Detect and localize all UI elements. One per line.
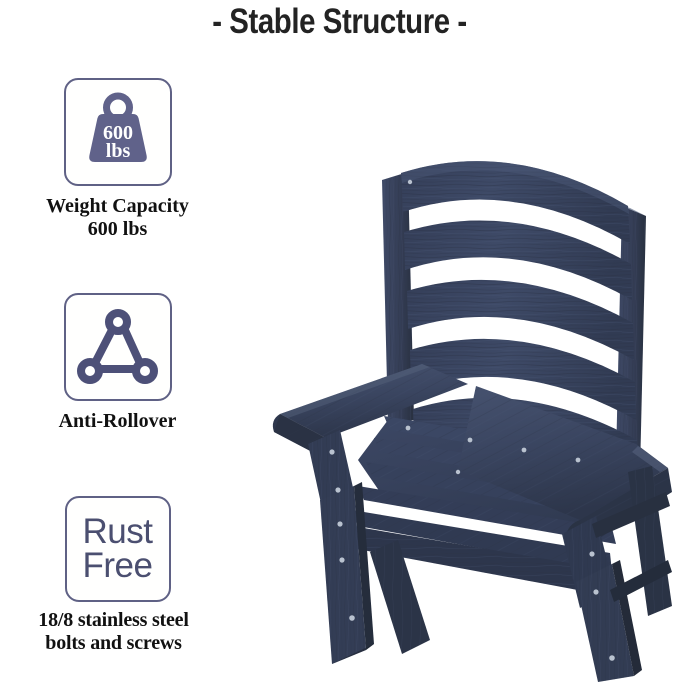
feature-caption-anti-rollover: Anti-Rollover [0,410,235,433]
icon-box-rust-free: Rust Free [65,496,171,602]
rust-free-line-1: Rust [83,515,153,549]
triangle-nodes-icon-svg [77,308,159,386]
icon-box-weight-capacity: 600 lbs [64,78,172,186]
feature-caption-rust-free: 18/8 stainless steel bolts and screws [0,609,235,655]
feature-caption-weight-capacity: Weight Capacity 600 lbs [0,195,235,241]
chair-illustration [262,120,679,682]
feature-item-anti-rollover: Anti-Rollover [0,293,235,433]
weight-600lbs-icon: 600 lbs [66,80,170,184]
feature-item-rust-free: Rust Free 18/8 stainless steel bolts and… [0,496,235,655]
rust-free-icon: Rust Free [67,498,169,600]
page-title: - Stable Structure - [54,2,624,42]
product-image-navy-outdoor-armchair [262,120,679,682]
rust-free-line-2: Free [83,549,153,583]
weight-icon-unit: lbs [105,140,130,162]
rust-free-icon-text: Rust Free [83,515,153,584]
weight-600lbs-icon-svg: 600 lbs [75,89,161,175]
icon-box-anti-rollover [64,293,172,401]
triangle-nodes-icon [66,295,170,399]
feature-item-weight-capacity: 600 lbs Weight Capacity 600 lbs [0,78,235,241]
